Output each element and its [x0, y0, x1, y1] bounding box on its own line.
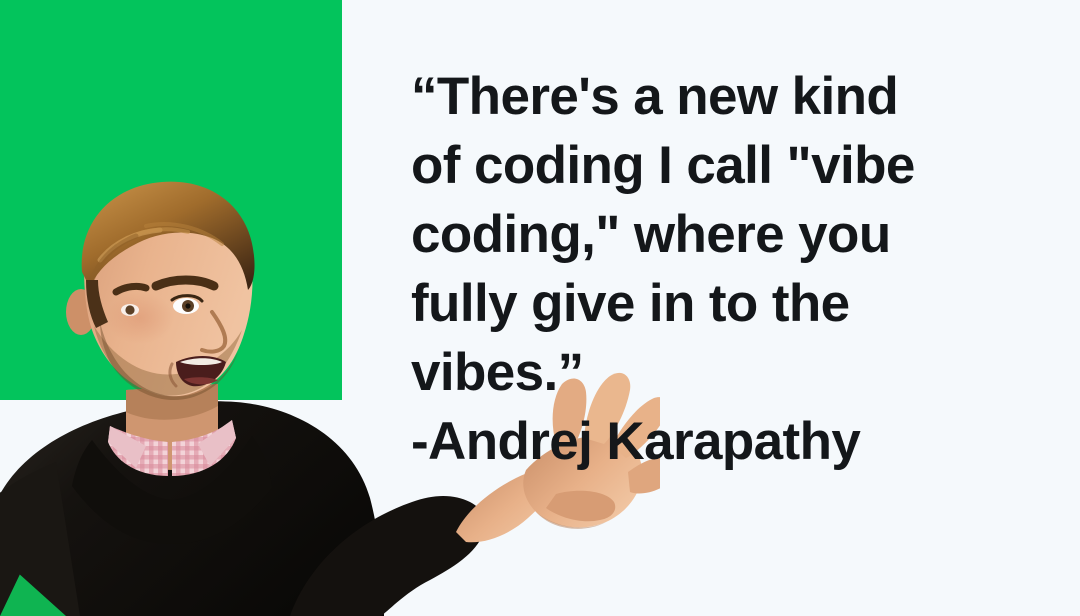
- quote-line-4: fully give in to the: [411, 269, 1051, 338]
- quote-text-block: “There's a new kind of coding I call "vi…: [411, 62, 1051, 476]
- quote-card: “There's a new kind of coding I call "vi…: [0, 0, 1080, 616]
- quote-attribution: -Andrej Karapathy: [411, 407, 1051, 476]
- quote-line-2: of coding I call "vibe: [411, 131, 1051, 200]
- quote-line-5: vibes.”: [411, 338, 1051, 407]
- quote-line-3: coding," where you: [411, 200, 1051, 269]
- quote-line-1: “There's a new kind: [411, 62, 1051, 131]
